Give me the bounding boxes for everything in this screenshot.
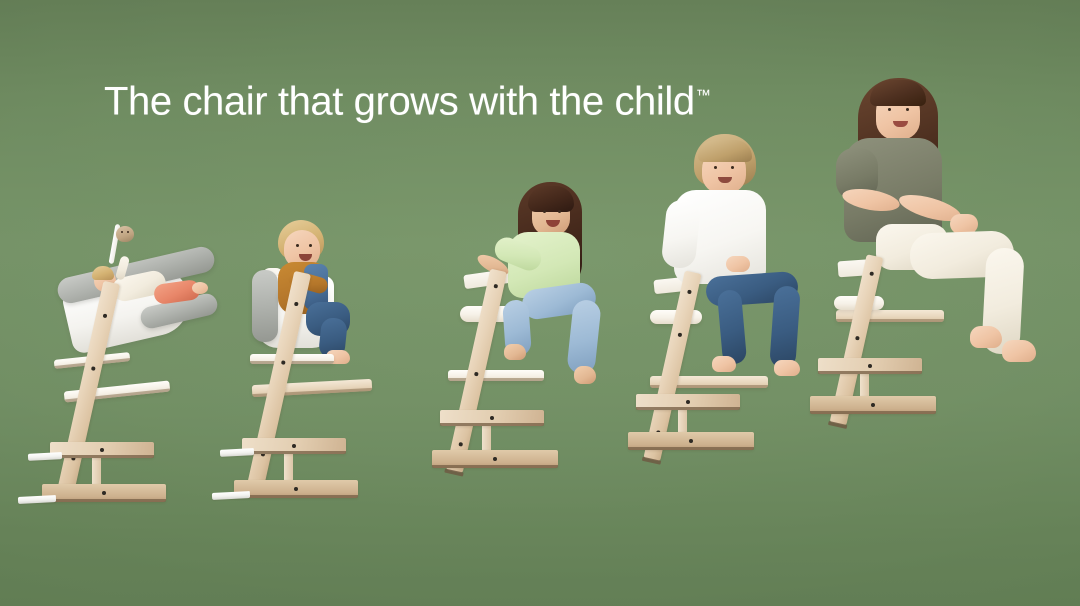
- base-runner-upper: [636, 394, 740, 410]
- child-foot-near: [504, 344, 526, 360]
- boy-hand: [726, 256, 750, 272]
- child-eye: [543, 210, 546, 213]
- base-runner-lower: [628, 432, 754, 450]
- child-hair-front: [528, 186, 574, 212]
- base-runner-upper: [818, 358, 922, 374]
- boy-fringe: [698, 140, 752, 162]
- page-title-text: The chair that grows with the child: [104, 79, 695, 123]
- sloth-toy-eye: [121, 231, 123, 233]
- woman-eye: [888, 108, 891, 111]
- base-glider-lower: [18, 495, 56, 504]
- base-runner-upper: [440, 410, 544, 426]
- figure-adult: [838, 72, 1058, 372]
- newborn-hair: [92, 266, 114, 280]
- woman-foot-near: [1002, 340, 1036, 362]
- hero-banner: The chair that grows with the child™: [0, 0, 1080, 606]
- base-runner-upper: [242, 438, 346, 454]
- chair-adult: [818, 134, 1068, 534]
- toddler-eye: [296, 244, 299, 247]
- boy-eye: [731, 166, 734, 169]
- woman-foot-far: [970, 326, 1002, 348]
- child-eye: [558, 210, 561, 213]
- sloth-toy-icon: [116, 226, 134, 242]
- base-runner-lower: [810, 396, 936, 414]
- woman-hair-front: [870, 80, 926, 106]
- boy-foot-far: [774, 360, 800, 376]
- trademark-symbol: ™: [696, 87, 711, 104]
- base-runner-lower: [432, 450, 558, 468]
- chair-newborn: [20, 234, 240, 534]
- sloth-toy-eye: [127, 231, 129, 233]
- base-runner-lower: [42, 484, 166, 502]
- base-glider-lower: [212, 491, 250, 500]
- child-foot-far: [574, 366, 596, 384]
- base-glider-upper: [28, 452, 62, 461]
- boy-foot-near: [712, 356, 736, 372]
- boy-shin-far: [769, 285, 801, 369]
- toddler-eye: [309, 244, 312, 247]
- base-glider-upper: [220, 448, 254, 457]
- boy-eye: [714, 166, 717, 169]
- chair-toddler: [222, 224, 442, 534]
- base-runner-upper: [50, 442, 154, 458]
- page-title: The chair that grows with the child™: [104, 72, 711, 125]
- chair-young-child: [424, 194, 654, 534]
- woman-eye: [906, 108, 909, 111]
- seat-plate: [448, 370, 544, 381]
- base-runner-lower: [234, 480, 358, 498]
- newborn-foot: [192, 282, 208, 294]
